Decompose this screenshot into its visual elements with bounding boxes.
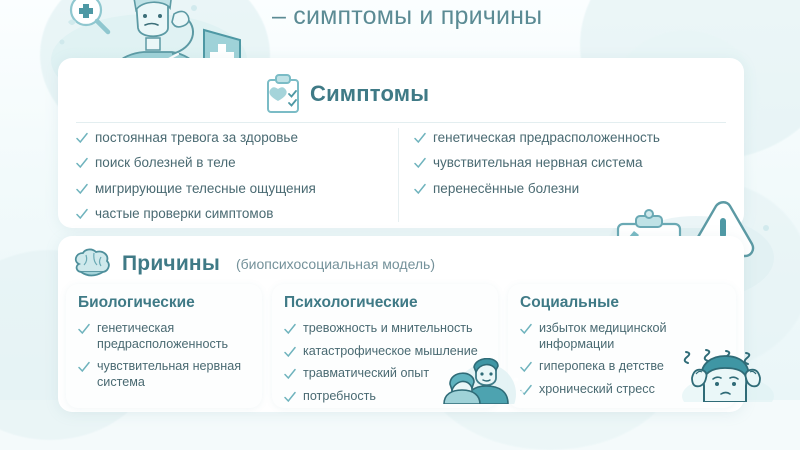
column-title: Социальные bbox=[520, 294, 724, 312]
column-title: Психологические bbox=[284, 294, 486, 312]
list-item-label: хронический стресс bbox=[539, 382, 655, 398]
stressed-woman-illustration bbox=[672, 348, 780, 402]
list-item: тревожность и мнительность bbox=[284, 321, 486, 337]
list-item: мигрирующие телесные ощущения bbox=[76, 181, 386, 198]
list-item-label: перенесённые болезни bbox=[433, 181, 579, 198]
list-item-label: чувствительная нервная система bbox=[97, 359, 250, 390]
check-icon bbox=[76, 183, 88, 195]
list-item-label: мигрирующие телесные ощущения bbox=[95, 181, 316, 198]
list-item-label: травматический опыт bbox=[303, 366, 429, 382]
symptoms-left-list: постоянная тревога за здоровье поиск бол… bbox=[76, 130, 386, 232]
section-divider bbox=[76, 122, 726, 123]
list-item-label: поиск болезней в теле bbox=[95, 155, 236, 172]
list-item-label: частые проверки симптомов bbox=[95, 206, 273, 223]
check-icon bbox=[78, 323, 90, 335]
list-item: генетическая предрасположенность bbox=[78, 321, 250, 352]
causes-section-header: Причины (биопсихосоциальная модель) bbox=[72, 248, 435, 280]
check-icon bbox=[284, 368, 296, 380]
check-icon bbox=[76, 208, 88, 220]
symptoms-right-list: генетическая предрасположенность чувстви… bbox=[414, 130, 732, 206]
list-item-label: чувствительная нервная система bbox=[433, 155, 643, 172]
symptoms-heading: Симптомы bbox=[310, 81, 429, 107]
check-icon bbox=[414, 157, 426, 169]
brain-icon bbox=[72, 248, 112, 280]
list-item-label: генетическая предрасположенность bbox=[433, 130, 660, 147]
list-item: чувствительная нервная система bbox=[414, 155, 732, 172]
symptoms-section-header: Симптомы bbox=[266, 74, 429, 114]
list-item-label: постоянная тревога за здоровье bbox=[95, 130, 298, 147]
couple-illustration bbox=[430, 358, 538, 404]
list-item: постоянная тревога за здоровье bbox=[76, 130, 386, 147]
list-item: частые проверки симптомов bbox=[76, 206, 386, 223]
check-icon bbox=[520, 323, 532, 335]
check-icon bbox=[76, 157, 88, 169]
check-icon bbox=[284, 346, 296, 358]
list-item: чувствительная нервная система bbox=[78, 359, 250, 390]
causes-heading: Причины bbox=[122, 252, 220, 276]
check-icon bbox=[78, 361, 90, 373]
column-divider bbox=[398, 128, 399, 222]
list-item-label: генетическая предрасположенность bbox=[97, 321, 250, 352]
causes-subtitle: (биопсихосоциальная модель) bbox=[236, 256, 435, 272]
list-item-label: потребность bbox=[303, 389, 376, 405]
check-icon bbox=[414, 132, 426, 144]
list-item: перенесённые болезни bbox=[414, 181, 732, 198]
clipboard-heart-icon bbox=[266, 74, 300, 114]
page-title: – симптомы и причины bbox=[272, 2, 742, 31]
check-icon bbox=[284, 391, 296, 403]
check-icon bbox=[414, 183, 426, 195]
causes-column-biological: Биологические генетическая предрасположе… bbox=[66, 284, 262, 408]
list-item: поиск болезней в теле bbox=[76, 155, 386, 172]
list-item: генетическая предрасположенность bbox=[414, 130, 732, 147]
list-item-label: тревожность и мнительность bbox=[303, 321, 473, 337]
list-item-label: гиперопека в детстве bbox=[539, 359, 664, 375]
column-title: Биологические bbox=[78, 294, 250, 312]
check-icon bbox=[76, 132, 88, 144]
check-icon bbox=[284, 323, 296, 335]
